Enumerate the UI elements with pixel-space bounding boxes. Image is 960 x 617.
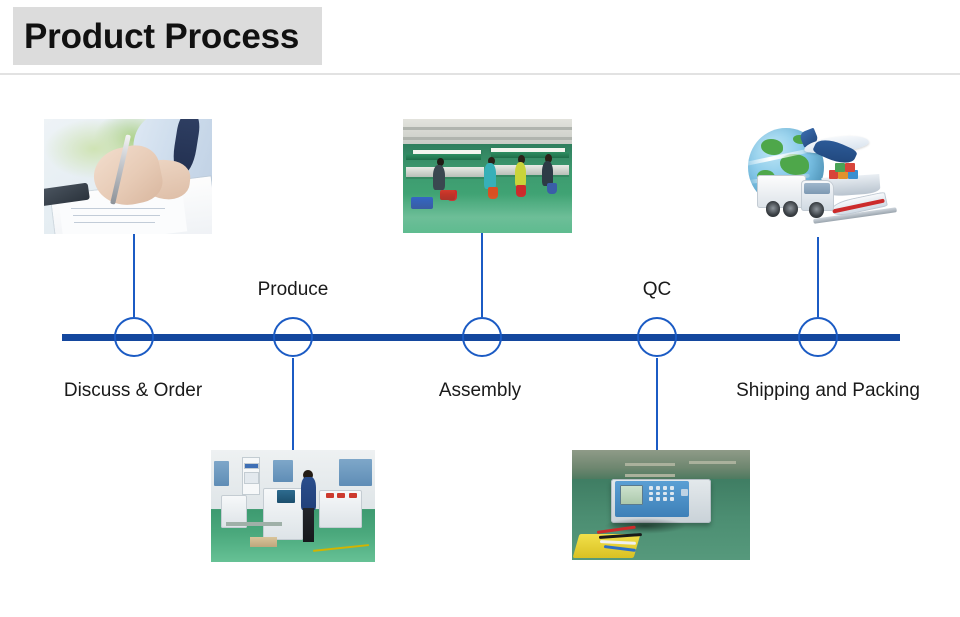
production-machine-room-illustration bbox=[211, 450, 375, 562]
timeline-node-discuss-order[interactable] bbox=[114, 317, 154, 357]
signing-document-illustration bbox=[44, 119, 212, 234]
step-image-qc bbox=[572, 450, 750, 560]
connector-qc bbox=[656, 358, 658, 451]
step-image-produce bbox=[211, 450, 375, 562]
header-divider bbox=[0, 73, 960, 75]
step-label-produce: Produce bbox=[193, 280, 393, 299]
product-process-slide: Product Process bbox=[0, 0, 960, 617]
connector-shipping-packing bbox=[817, 237, 819, 317]
connector-discuss-order bbox=[133, 234, 135, 317]
timeline-node-qc[interactable] bbox=[637, 317, 677, 357]
step-label-discuss-order: Discuss & Order bbox=[33, 381, 233, 400]
qc-test-station-illustration bbox=[572, 450, 750, 560]
step-label-assembly: Assembly bbox=[380, 381, 580, 400]
step-image-shipping-packing bbox=[738, 118, 900, 237]
step-label-shipping-packing: Shipping and Packing bbox=[678, 381, 960, 400]
step-label-qc: QC bbox=[557, 280, 757, 299]
connector-assembly bbox=[481, 233, 483, 317]
title-highlight-box: Product Process bbox=[13, 7, 322, 65]
step-image-discuss-order bbox=[44, 119, 212, 234]
timeline-node-shipping-packing[interactable] bbox=[798, 317, 838, 357]
connector-produce bbox=[292, 358, 294, 451]
step-image-assembly bbox=[403, 119, 572, 233]
global-logistics-illustration bbox=[738, 118, 900, 237]
slide-header: Product Process bbox=[0, 0, 960, 75]
page-title: Product Process bbox=[13, 19, 299, 54]
factory-assembly-line-illustration bbox=[403, 119, 572, 233]
timeline-node-produce[interactable] bbox=[273, 317, 313, 357]
timeline-node-assembly[interactable] bbox=[462, 317, 502, 357]
